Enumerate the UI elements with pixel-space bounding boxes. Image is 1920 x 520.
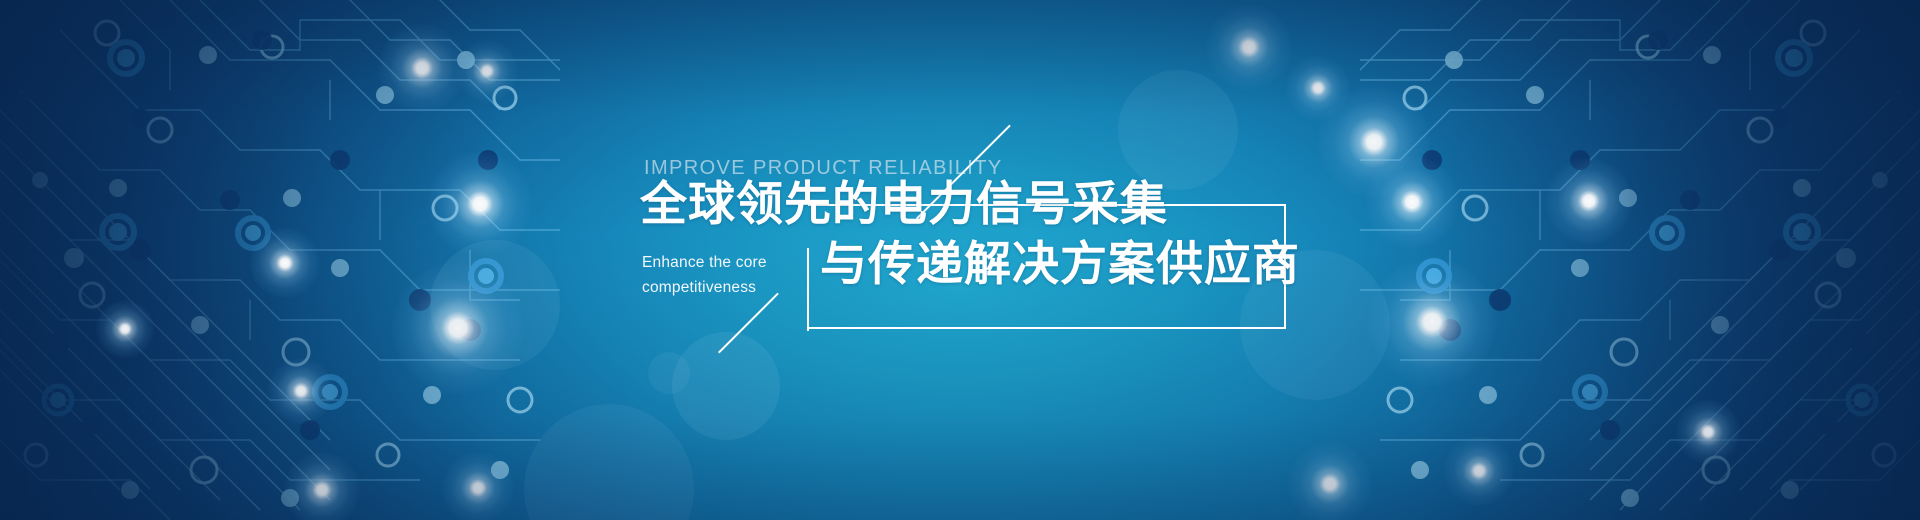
- decorative-diagonal-bottom: [718, 293, 779, 354]
- banner-subcopy-line2: competitiveness: [642, 275, 767, 300]
- banner-content: IMPROVE PRODUCT RELIABILITY 全球领先的电力信号采集 …: [0, 0, 1920, 520]
- banner-subcopy: Enhance the core competitiveness: [642, 250, 767, 300]
- hero-banner: IMPROVE PRODUCT RELIABILITY 全球领先的电力信号采集 …: [0, 0, 1920, 520]
- decorative-frame-left-edge: [807, 248, 809, 331]
- banner-headline-line2: 与传递解决方案供应商: [820, 240, 1300, 287]
- banner-subcopy-line1: Enhance the core: [642, 250, 767, 275]
- banner-headline-line1: 全球领先的电力信号采集: [640, 180, 1168, 227]
